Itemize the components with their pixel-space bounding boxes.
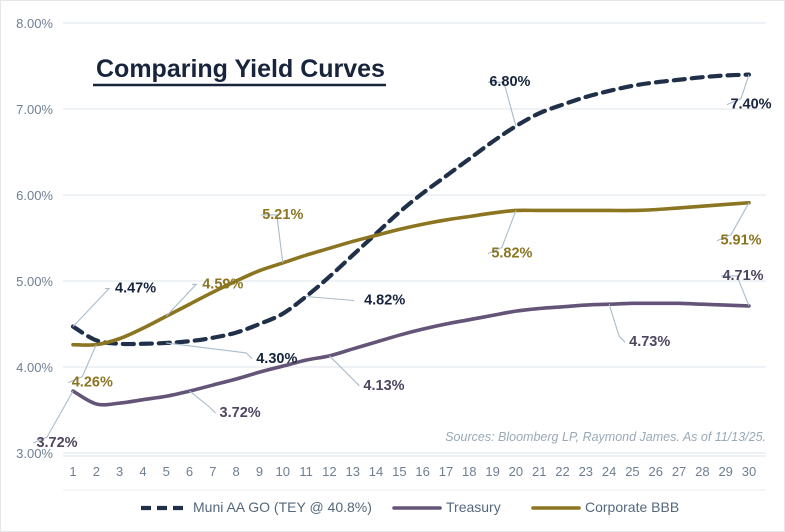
series-lines [73,75,749,405]
x-axis-tick: 20 [509,464,523,479]
y-axis-tick-labels: 3.00%4.00%5.00%6.00%7.00%8.00% [16,16,53,461]
data-label: 5.82% [491,245,532,261]
x-axis-tick: 12 [322,464,336,479]
y-axis-tick: 8.00% [16,16,53,31]
x-axis-tick: 29 [718,464,732,479]
x-axis-tick: 25 [625,464,639,479]
legend-label[interactable]: Muni AA GO (TEY @ 40.8%) [193,499,372,515]
chart-title: Comparing Yield Curves [96,55,385,83]
label-leader-line [190,391,216,413]
data-label: 4.82% [364,292,405,308]
data-label: 4.73% [629,334,670,350]
data-label: 4.71% [722,268,763,284]
data-label: 5.21% [262,207,303,223]
x-axis-tick: 23 [579,464,593,479]
data-label: 4.59% [202,276,243,292]
series-line [73,303,749,405]
x-axis-tick: 9 [256,464,263,479]
data-labels: 4.47%4.30%4.82%6.80%7.40%4.26%4.59%5.21%… [33,74,772,451]
data-label: 6.80% [489,74,530,90]
label-leader-line [306,297,354,301]
y-axis-tick: 5.00% [16,274,53,289]
x-axis-tick: 6 [186,464,193,479]
x-axis-tick: 3 [116,464,123,479]
x-axis-tick: 1 [69,464,76,479]
x-axis-tick: 16 [415,464,429,479]
x-axis-tick: 4 [139,464,146,479]
label-leader-line [609,304,625,342]
x-axis-tick: 18 [462,464,476,479]
x-axis-tick: 2 [93,464,100,479]
data-label: 5.91% [720,233,761,249]
x-axis-tick-labels: 1234567891011121314151617181920212223242… [69,464,756,479]
x-axis-tick: 7 [209,464,216,479]
data-label: 4.30% [256,351,297,367]
x-axis-tick: 17 [439,464,453,479]
series-line [73,203,749,345]
x-axis-tick: 24 [602,464,616,479]
chart-container: 3.00%4.00%5.00%6.00%7.00%8.00% 123456789… [0,0,785,532]
data-label: 3.72% [220,405,261,421]
legend-label[interactable]: Corporate BBB [585,499,679,515]
y-axis-tick: 6.00% [16,188,53,203]
x-axis-tick: 5 [163,464,170,479]
yield-curve-chart: 3.00%4.00%5.00%6.00%7.00%8.00% 123456789… [1,1,785,532]
x-axis-tick: 30 [742,464,756,479]
source-note: Sources: Bloomberg LP, Raymond James. As… [445,430,766,444]
x-axis-tick: 19 [485,464,499,479]
x-axis-tick: 8 [233,464,240,479]
x-axis-tick: 13 [345,464,359,479]
chart-legend: Muni AA GO (TEY @ 40.8%)TreasuryCorporat… [141,499,679,515]
x-axis-tick: 21 [532,464,546,479]
y-axis-tick: 7.00% [16,102,53,117]
x-axis-tick: 27 [672,464,686,479]
gridlines [63,23,766,453]
label-leader-line [166,343,252,359]
label-leader-line [73,289,109,327]
data-label: 3.72% [36,435,77,451]
x-axis-tick: 22 [555,464,569,479]
x-axis-tick: 15 [392,464,406,479]
x-axis-tick: 11 [299,464,313,479]
label-leader-line [329,356,359,386]
x-axis-tick: 28 [695,464,709,479]
data-label: 7.40% [730,97,771,113]
x-axis-tick: 10 [276,464,290,479]
data-label: 4.13% [363,378,404,394]
x-axis-tick: 26 [649,464,663,479]
x-axis-tick: 14 [369,464,383,479]
legend-label[interactable]: Treasury [446,499,501,515]
data-label: 4.47% [115,281,156,297]
y-axis-tick: 4.00% [16,360,53,375]
label-leader-line [166,284,196,316]
data-label: 4.26% [72,375,113,391]
